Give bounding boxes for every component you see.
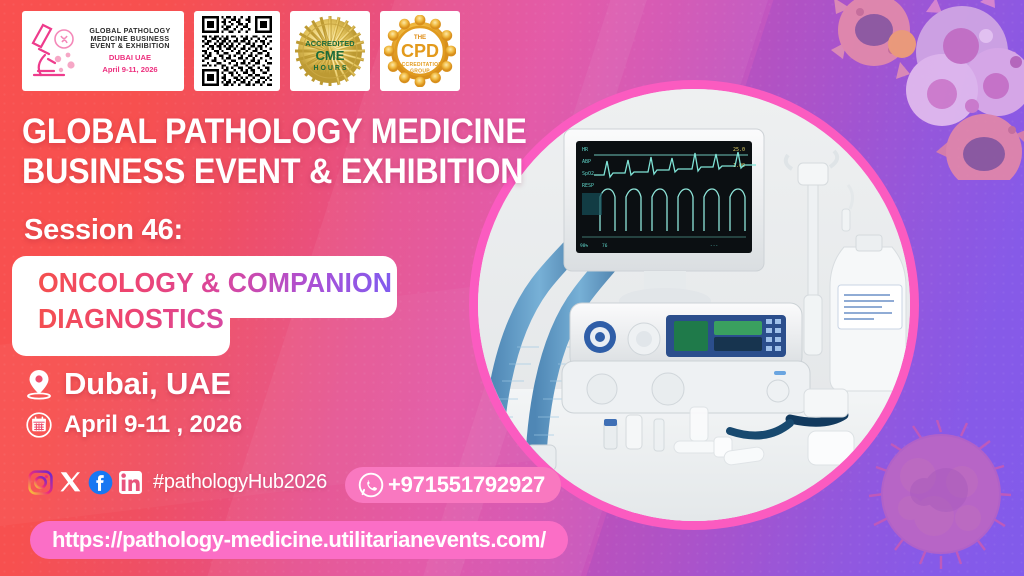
location-pin-icon: [26, 368, 52, 400]
session-topic-text: ONCOLOGY & COMPANION DIAGNOSTICS: [38, 265, 392, 336]
whatsapp-icon: [358, 472, 384, 498]
headline-line-2: BUSINESS EVENT & EXHIBITION: [22, 152, 527, 192]
promotional-banner: HRABP SpO2RESP 25.01.00 98%7: [0, 0, 1024, 576]
calendar-icon: [26, 412, 52, 438]
circular-photo-frame: HRABP SpO2RESP 25.01.00 98%7: [469, 80, 919, 530]
venue-line: Dubai, UAE: [26, 366, 231, 402]
cme-seal-line1: ACCREDITED: [305, 39, 355, 48]
hashtag-text: #pathologyHub2026: [153, 471, 327, 494]
cpd-accreditation-badge: THE CPD ACCREDITATION GROUP: [380, 11, 460, 91]
session-label: Session 46:: [24, 214, 183, 247]
event-logo-badge: GLOBAL PATHOLOGY MEDICINE BUSINESS EVENT…: [22, 11, 184, 91]
svg-text:RESP: RESP: [582, 183, 594, 189]
event-headline: GLOBAL PATHOLOGY MEDICINE BUSINESS EVENT…: [22, 112, 527, 191]
medical-equipment-photo: HRABP SpO2RESP 25.01.00 98%7: [478, 89, 910, 521]
cpd-seal-line1: THE: [414, 34, 426, 41]
svg-text:SpO2: SpO2: [582, 171, 594, 177]
cme-accreditation-badge: ACCREDITED CME H O U R S: [290, 11, 370, 91]
svg-text:ABP: ABP: [582, 159, 591, 165]
whatsapp-contact-pill[interactable]: +971551792927: [345, 467, 561, 503]
logo-title-line-3: EVENT & EXHIBITION: [82, 43, 178, 51]
badge-strip: GLOBAL PATHOLOGY MEDICINE BUSINESS EVENT…: [22, 11, 460, 91]
qr-code-icon[interactable]: [199, 16, 275, 86]
svg-text:25.0: 25.0: [733, 147, 745, 153]
qr-code-badge[interactable]: [194, 11, 280, 91]
logo-dates: April 9-11, 2026: [82, 66, 178, 75]
cpd-seal-line4: GROUP: [410, 69, 430, 75]
svg-text:---: ---: [710, 244, 718, 249]
svg-text:76: 76: [602, 243, 608, 249]
gold-seal-icon: THE CPD ACCREDITATION GROUP: [384, 15, 456, 87]
svg-text:98%: 98%: [580, 243, 588, 249]
whatsapp-number: +971551792927: [388, 472, 545, 498]
gold-seal-icon: ACCREDITED CME H O U R S: [294, 15, 366, 87]
cme-seal-line2: CME: [316, 48, 345, 63]
date-text: April 9-11 , 2026: [64, 411, 242, 439]
linkedin-icon[interactable]: [118, 470, 143, 495]
cpd-seal-line2: CPD: [401, 41, 439, 61]
venue-text: Dubai, UAE: [64, 366, 231, 402]
microscope-icon: [28, 15, 78, 87]
cpd-seal-line3: ACCREDITATION: [398, 62, 443, 68]
date-line: April 9-11 , 2026: [26, 411, 242, 439]
session-topic-line-2: DIAGNOSTICS: [38, 301, 392, 337]
website-url-text: https://pathology-medicine.utilitarianev…: [52, 527, 546, 553]
social-links-row: #pathologyHub2026: [28, 470, 327, 495]
session-topic-panel: ONCOLOGY & COMPANION DIAGNOSTICS: [12, 256, 397, 356]
cme-seal-line3: H O U R S: [313, 65, 346, 72]
website-url-pill[interactable]: https://pathology-medicine.utilitarianev…: [30, 521, 568, 559]
facebook-icon[interactable]: [88, 470, 113, 495]
logo-location: DUBAI UAE: [82, 54, 178, 63]
instagram-icon[interactable]: [28, 470, 53, 495]
svg-text:HR: HR: [582, 147, 589, 153]
x-twitter-icon[interactable]: [58, 470, 83, 495]
headline-line-1: GLOBAL PATHOLOGY MEDICINE: [22, 112, 527, 152]
session-topic-line-1: ONCOLOGY & COMPANION: [38, 265, 392, 301]
